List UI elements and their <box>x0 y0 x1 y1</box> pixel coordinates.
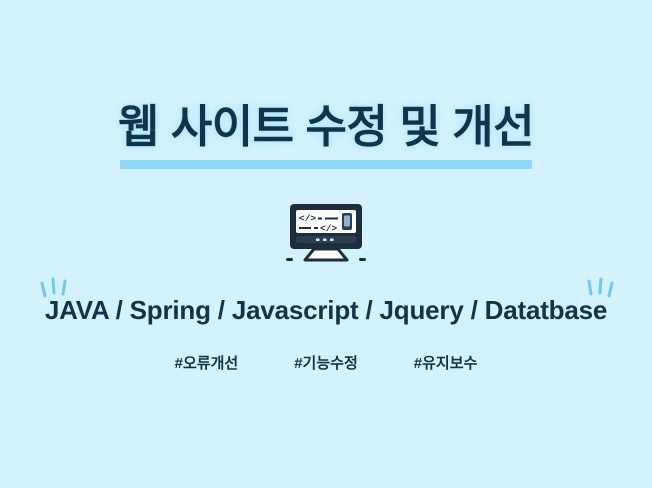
promo-banner: 웹 사이트 수정 및 개선 </> </> <box>0 0 652 488</box>
svg-text:</>: </> <box>320 223 337 234</box>
tech-stack-row: JAVA / Spring / Javascript / Jquery / Da… <box>0 290 652 330</box>
title-block: 웹 사이트 수정 및 개선 <box>118 104 534 169</box>
svg-text:</>: </> <box>299 213 316 224</box>
hashtag-item: #기능수정 <box>294 352 358 373</box>
tech-stack-label: JAVA / Spring / Javascript / Jquery / Da… <box>45 295 607 326</box>
title-underline <box>120 160 532 169</box>
desktop-monitor-code-icon: </> </> <box>278 196 374 268</box>
hashtag-item: #오류개선 <box>175 352 239 373</box>
sparkle-right-icon <box>580 276 614 306</box>
sparkle-left-icon <box>40 276 74 306</box>
hashtag-list: #오류개선 #기능수정 #유지보수 <box>175 352 478 373</box>
hashtag-item: #유지보수 <box>414 352 478 373</box>
page-title: 웹 사이트 수정 및 개선 <box>118 104 534 149</box>
